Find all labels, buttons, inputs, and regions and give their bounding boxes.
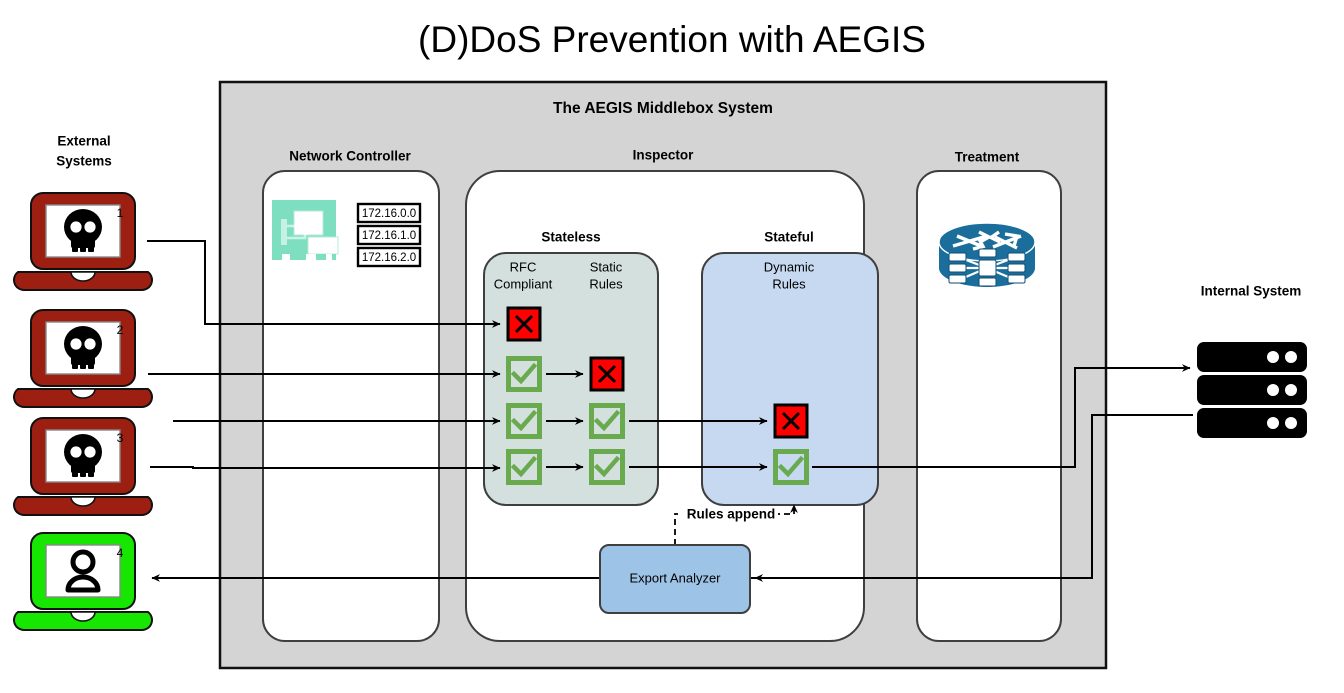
external-systems-label-line2: Systems	[56, 154, 112, 169]
laptop-3-number: 3	[117, 431, 124, 445]
internal-servers	[1197, 342, 1307, 438]
stateless-col0-line1: RFC	[510, 259, 537, 274]
nic-icon	[272, 200, 338, 260]
stateful-col0-line1: Dynamic	[764, 259, 815, 274]
panel-title-network-controller: Network Controller	[289, 149, 411, 164]
stateless-col1-line1: Static	[590, 259, 623, 274]
stateless-col0-line2: Compliant	[494, 276, 553, 291]
panel-title-treatment: Treatment	[955, 150, 1020, 165]
page-title: (D)DoS Prevention with AEGIS	[418, 19, 926, 60]
panel-title-inspector: Inspector	[633, 148, 695, 163]
flow-line-4a	[150, 467, 500, 468]
rules-append-label: Rules append	[687, 507, 776, 522]
mark-row2-static-fail	[591, 358, 623, 390]
ip-label-2: 172.16.2.0	[362, 252, 416, 264]
ip-label-0: 172.16.0.0	[362, 208, 416, 220]
laptop-4-number: 4	[117, 546, 124, 560]
server-2[interactable]	[1197, 375, 1307, 405]
laptop-2-number: 2	[117, 323, 124, 337]
external-systems-label-line1: External	[57, 134, 110, 149]
laptop-3[interactable]: 3	[14, 418, 152, 515]
laptop-4[interactable]: 4	[14, 533, 152, 630]
mark-row3-dynamic-fail	[775, 405, 807, 437]
server-1[interactable]	[1197, 342, 1307, 372]
laptop-1[interactable]: 1	[14, 193, 152, 290]
ip-label-1: 172.16.1.0	[362, 230, 416, 242]
diagram-canvas: (D)DoS Prevention with AEGIS The AEGIS M…	[0, 0, 1344, 693]
router-icon	[939, 223, 1035, 287]
stateless-col1-line2: Rules	[589, 276, 623, 291]
server-3[interactable]	[1197, 408, 1307, 438]
mark-row1-rfc-fail	[508, 308, 540, 340]
stateful-col0-line2: Rules	[772, 276, 806, 291]
diagram-root: (D)DoS Prevention with AEGIS The AEGIS M…	[0, 0, 1344, 693]
laptop-2[interactable]: 2	[14, 310, 152, 407]
stateful-label: Stateful	[764, 230, 814, 245]
laptop-1-number: 1	[117, 206, 124, 220]
internal-system-label: Internal System	[1201, 284, 1302, 299]
system-title: The AEGIS Middlebox System	[553, 100, 773, 117]
ip-address-list: 172.16.0.0 172.16.1.0 172.16.2.0	[358, 204, 420, 266]
export-analyzer-label: Export Analyzer	[629, 570, 721, 585]
stateless-label: Stateless	[541, 230, 600, 245]
